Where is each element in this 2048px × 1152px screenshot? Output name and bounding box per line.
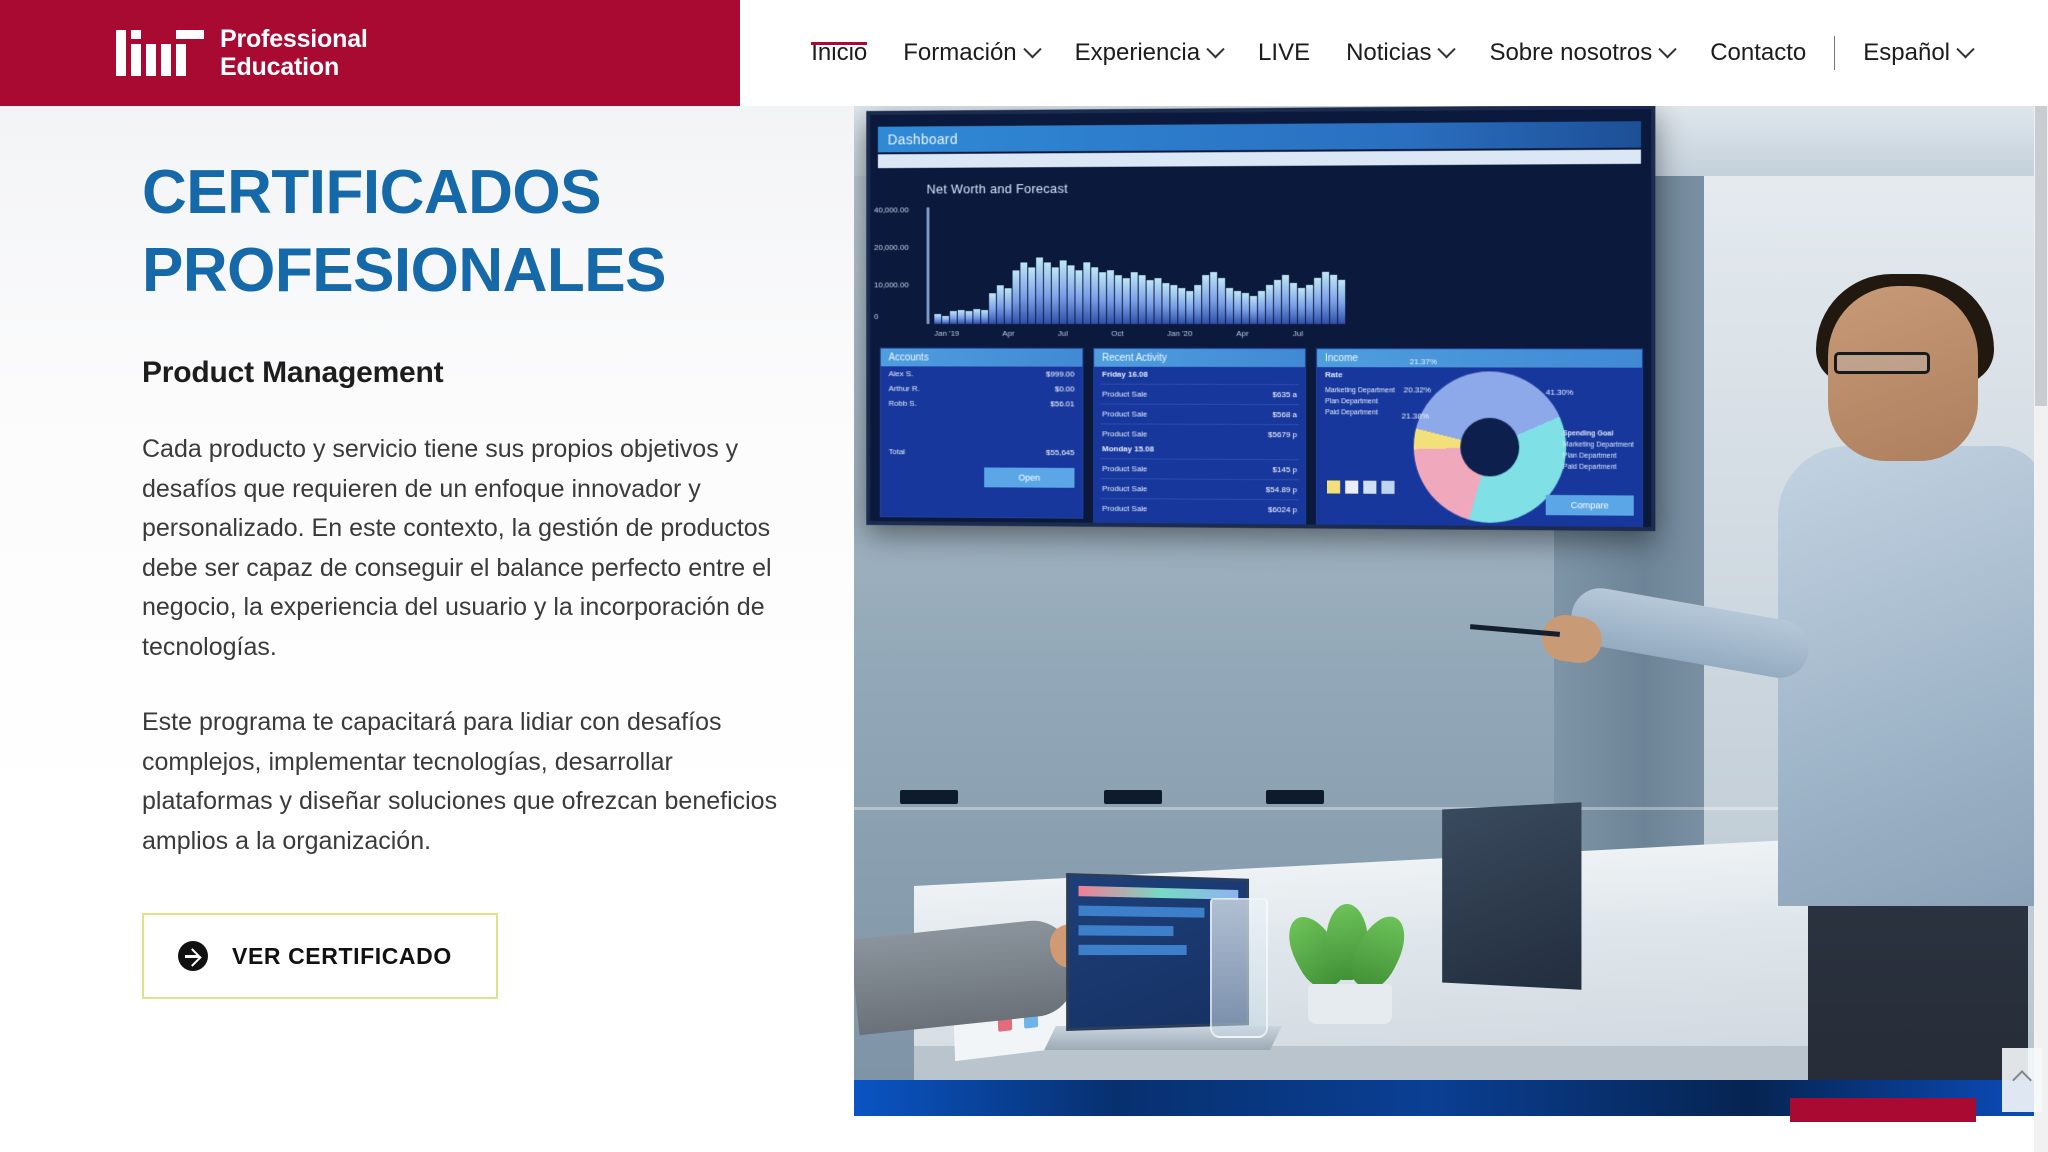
chevron-down-icon bbox=[1023, 40, 1041, 58]
chart-bar bbox=[1020, 263, 1027, 324]
panel-recent-activity: Recent Activity Friday 16.08 Product Sal… bbox=[1093, 348, 1306, 529]
chart-bar bbox=[1314, 278, 1321, 325]
nav-item-experiencia[interactable]: Experiencia bbox=[1057, 39, 1240, 67]
panel-accounts: Accounts Alex S.$999.00 Arthur R.$0.00 R… bbox=[880, 348, 1083, 519]
chart-x-tick: Jan '20 bbox=[1167, 329, 1192, 338]
chart-bar bbox=[1036, 257, 1043, 323]
chevron-down-icon bbox=[1206, 40, 1224, 58]
account-name: Robb S. bbox=[889, 399, 917, 408]
activity-label: Product Sale bbox=[1102, 484, 1147, 493]
y-tick-0: 40,000.00 bbox=[874, 205, 909, 214]
activity-amount: $568 a bbox=[1273, 410, 1297, 419]
chart-bar bbox=[997, 286, 1004, 324]
chart-bar bbox=[1115, 275, 1122, 324]
chart-bar bbox=[1234, 291, 1241, 324]
spending-goal-item: Plan Department bbox=[1563, 451, 1634, 463]
wall-speaker bbox=[1266, 790, 1324, 804]
nav-item-live[interactable]: LIVE bbox=[1240, 39, 1328, 67]
panel-income-title: Income bbox=[1317, 349, 1642, 368]
chart-bar bbox=[1139, 275, 1146, 324]
language-selector[interactable]: Español bbox=[1845, 39, 1990, 67]
activity-day: Friday 16.08 bbox=[1102, 370, 1148, 379]
chart-bar bbox=[1052, 268, 1059, 324]
activity-amount: $145 p bbox=[1273, 465, 1297, 474]
chart-x-tick: Jul bbox=[1293, 329, 1303, 338]
presenter-glasses bbox=[1834, 352, 1930, 374]
dashboard-body: Net Worth and Forecast 40,000.00 20,000.… bbox=[870, 168, 1651, 527]
chart-bar bbox=[1226, 288, 1233, 324]
accounts-total-label: Total bbox=[889, 447, 905, 456]
chart-bar bbox=[1330, 275, 1337, 324]
account-name: Arthur R. bbox=[889, 384, 920, 393]
panel-activity-title: Recent Activity bbox=[1094, 349, 1305, 367]
chart-bar bbox=[1131, 273, 1138, 324]
chart-bar bbox=[966, 311, 973, 324]
language-label: Español bbox=[1863, 39, 1950, 67]
wall-speaker bbox=[900, 790, 958, 804]
chart-bar bbox=[1258, 290, 1265, 324]
chart-bar bbox=[973, 309, 980, 324]
dashboard-chart-title: Net Worth and Forecast bbox=[927, 181, 1068, 197]
donut-pct-4: 41.30% bbox=[1546, 388, 1574, 397]
hero-paragraph-2: Este programa te capacitará para lidiar … bbox=[142, 703, 782, 861]
chart-bar bbox=[1107, 270, 1114, 324]
chevron-up-icon bbox=[2012, 1070, 2032, 1090]
nav-label-contacto: Contacto bbox=[1710, 39, 1806, 67]
wall-speaker bbox=[1104, 790, 1162, 804]
nav-divider bbox=[1834, 36, 1835, 70]
chart-bar bbox=[1170, 285, 1177, 324]
water-glass bbox=[1210, 898, 1268, 1038]
footer-accent-bar bbox=[1790, 1098, 1976, 1122]
chart-bar bbox=[1218, 278, 1225, 324]
chart-x-tick: Apr bbox=[1236, 329, 1248, 338]
chart-bar bbox=[1242, 293, 1249, 324]
chevron-down-icon bbox=[1438, 40, 1456, 58]
chart-bar bbox=[1075, 270, 1082, 324]
panel-income: Income Rate Marketing Department Plan De… bbox=[1316, 348, 1643, 531]
chart-bar bbox=[1028, 268, 1035, 324]
nav-item-formacion[interactable]: Formación bbox=[885, 39, 1056, 67]
arrow-right-circle-icon bbox=[178, 941, 208, 971]
nav-label-experiencia: Experiencia bbox=[1075, 39, 1200, 67]
chart-bar bbox=[1186, 291, 1193, 324]
chart-bar bbox=[958, 310, 965, 324]
chart-bar bbox=[1178, 288, 1185, 324]
account-amount: $999.00 bbox=[1046, 370, 1074, 379]
income-legend-swatches bbox=[1327, 480, 1394, 493]
dashboard-toolbar bbox=[878, 150, 1641, 169]
chart-bar bbox=[1013, 270, 1020, 324]
nav-label-formacion: Formación bbox=[903, 39, 1016, 67]
activity-label: Product Sale bbox=[1102, 390, 1147, 399]
nav-item-sobre-nosotros[interactable]: Sobre nosotros bbox=[1471, 39, 1692, 67]
activity-amount: $54.89 p bbox=[1266, 485, 1297, 494]
accounts-total-amount: $55,645 bbox=[1046, 448, 1074, 457]
program-subtitle: Product Management bbox=[142, 356, 712, 390]
chart-y-axis bbox=[927, 207, 930, 324]
chart-bars bbox=[934, 206, 1345, 324]
donut-pct-2: 20.32% bbox=[1404, 385, 1431, 394]
nav-item-contacto[interactable]: Contacto bbox=[1692, 39, 1824, 67]
brand-logo[interactable]: Professional Education bbox=[0, 0, 740, 106]
chart-bar bbox=[934, 314, 941, 324]
activity-label: Product Sale bbox=[1102, 429, 1147, 438]
chart-bar bbox=[1266, 285, 1273, 324]
chart-bar bbox=[1044, 263, 1051, 324]
account-name: Alex S. bbox=[889, 369, 914, 378]
chart-bar bbox=[1068, 265, 1075, 324]
chart-bar bbox=[1005, 288, 1012, 324]
chevron-down-icon bbox=[1956, 40, 1974, 58]
chart-bar bbox=[950, 311, 957, 324]
net-worth-chart: 40,000.00 20,000.00 10,000.00 0 Jan '19A… bbox=[925, 203, 1584, 324]
activity-label: Product Sale bbox=[1102, 409, 1147, 418]
scrollbar-thumb[interactable] bbox=[2035, 106, 2047, 406]
scroll-to-top-button[interactable] bbox=[2002, 1048, 2042, 1112]
ver-certificado-button[interactable]: VER CERTIFICADO bbox=[142, 913, 498, 999]
chart-x-ticks: Jan '19AprJulOctJan '20AprJul bbox=[934, 329, 1303, 338]
dashboard-titlebar: Dashboard bbox=[878, 121, 1641, 152]
y-tick-1: 20,000.00 bbox=[874, 243, 909, 252]
chart-bar bbox=[1123, 278, 1130, 324]
nav-label-sobre-nosotros: Sobre nosotros bbox=[1489, 39, 1652, 67]
chart-bar bbox=[981, 310, 988, 324]
logo-line-1: Professional bbox=[220, 25, 368, 53]
activity-amount: $5679 p bbox=[1268, 430, 1297, 439]
active-nav-underline bbox=[811, 42, 867, 45]
page-title: CERTIFICADOS PROFESIONALES bbox=[142, 154, 712, 310]
chart-bar bbox=[942, 316, 949, 324]
chart-bar bbox=[1322, 272, 1329, 324]
activity-day: Monday 15.08 bbox=[1102, 444, 1154, 453]
panel-income-compare-button[interactable]: Compare bbox=[1546, 495, 1634, 516]
chart-bar bbox=[1274, 280, 1281, 324]
income-legend-title: Rate bbox=[1325, 370, 1342, 379]
mit-logo-icon bbox=[116, 30, 204, 76]
chart-bar bbox=[1290, 283, 1297, 324]
dashboard-window-title: Dashboard bbox=[888, 131, 958, 147]
main-navigation: Inicio Formación Experiencia LIVE Notici… bbox=[793, 0, 2048, 106]
chart-bar bbox=[1060, 260, 1067, 324]
panel-accounts-title: Accounts bbox=[881, 349, 1083, 367]
activity-label: Product Sale bbox=[1102, 504, 1147, 513]
activity-amount: $6024 p bbox=[1268, 505, 1297, 514]
chart-bar bbox=[1194, 285, 1201, 324]
logo-line-2: Education bbox=[220, 53, 368, 81]
spending-goal-item: Marketing Department bbox=[1563, 439, 1634, 450]
chart-bar bbox=[989, 293, 996, 324]
y-tick-2: 10,000.00 bbox=[874, 280, 909, 289]
activity-amount: $635 a bbox=[1273, 390, 1297, 399]
presenter-person bbox=[1738, 286, 2038, 1116]
chart-bar bbox=[1155, 278, 1162, 324]
chart-x-tick: Jul bbox=[1058, 329, 1068, 338]
chart-bar bbox=[1162, 283, 1169, 324]
chart-bar bbox=[1306, 285, 1313, 324]
chart-bar bbox=[1338, 280, 1345, 324]
chart-x-tick: Apr bbox=[1002, 329, 1014, 338]
chart-bar bbox=[1298, 288, 1305, 324]
donut-pct-1: 21.37% bbox=[1410, 357, 1437, 366]
chart-x-tick: Oct bbox=[1111, 329, 1123, 338]
chart-bar bbox=[1147, 280, 1154, 324]
chart-bar bbox=[1210, 273, 1217, 324]
wall-display-screen: Dashboard Net Worth and Forecast 40,000.… bbox=[866, 106, 1655, 531]
panel-accounts-open-button[interactable]: Open bbox=[984, 467, 1074, 487]
donut-pct-3: 21.38% bbox=[1402, 412, 1429, 421]
site-header: Professional Education Inicio Formación … bbox=[0, 0, 2048, 106]
activity-label: Product Sale bbox=[1102, 464, 1147, 473]
income-donut-chart bbox=[1414, 371, 1566, 523]
chart-bar bbox=[1091, 268, 1098, 324]
account-amount: $0.00 bbox=[1055, 384, 1075, 393]
desk-plant bbox=[1284, 894, 1414, 1024]
presenter-shirt bbox=[1778, 446, 2046, 906]
chart-x-tick: Jan '19 bbox=[934, 329, 959, 338]
chart-bar bbox=[1083, 262, 1090, 323]
page-title-line-2: PROFESIONALES bbox=[142, 232, 712, 310]
hero-photo: Dashboard Net Worth and Forecast 40,000.… bbox=[854, 106, 2048, 1116]
chevron-down-icon bbox=[1659, 40, 1677, 58]
hero-text-panel: CERTIFICADOS PROFESIONALES Product Manag… bbox=[0, 106, 854, 1116]
page-scrollbar[interactable] bbox=[2034, 106, 2048, 1152]
cta-label: VER CERTIFICADO bbox=[232, 943, 452, 970]
spending-goal-title: Spending Goal bbox=[1563, 430, 1614, 437]
spending-goal-item: Paid Department bbox=[1563, 462, 1634, 474]
nav-item-noticias[interactable]: Noticias bbox=[1328, 39, 1471, 67]
account-amount: $56.01 bbox=[1050, 399, 1074, 408]
hero-paragraph-1: Cada producto y servicio tiene sus propi… bbox=[142, 430, 782, 667]
chart-bar bbox=[1202, 275, 1209, 324]
nav-item-inicio[interactable]: Inicio bbox=[793, 39, 885, 67]
second-laptop bbox=[1442, 802, 1581, 990]
hero-section: CERTIFICADOS PROFESIONALES Product Manag… bbox=[0, 106, 2048, 1122]
chart-bar bbox=[1099, 273, 1106, 324]
nav-label-live: LIVE bbox=[1258, 39, 1310, 67]
page-title-line-1: CERTIFICADOS bbox=[142, 154, 712, 232]
chart-bar bbox=[1282, 275, 1289, 324]
y-tick-3: 0 bbox=[874, 312, 878, 321]
chart-bar bbox=[1250, 296, 1257, 324]
nav-label-noticias: Noticias bbox=[1346, 39, 1431, 67]
